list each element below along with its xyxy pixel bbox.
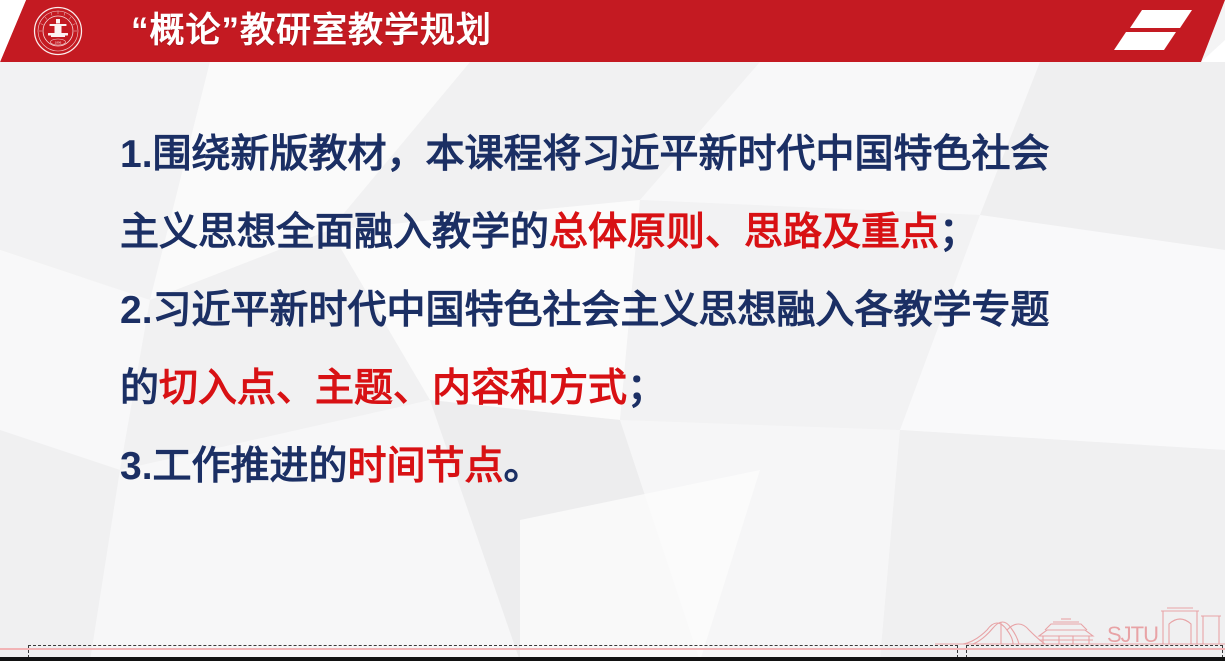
page-title: “概论”教研室教学规划 bbox=[131, 8, 492, 54]
text-run: 3.工作推进的 bbox=[120, 445, 348, 488]
text-run: 的 bbox=[120, 367, 159, 410]
text-run: 主义思想全面融入教学的 bbox=[120, 211, 549, 254]
list-item-2-line-1: 2.习近平新时代中国特色社会主义思想融入各教学专题 bbox=[120, 272, 1190, 350]
parallelogram-corner-mark bbox=[1108, 8, 1198, 54]
text-run: ； bbox=[627, 367, 666, 410]
text-run: 2.习近平新时代中国特色社会主义思想融入各教学专题 bbox=[120, 289, 1050, 332]
text-run-highlight: 总体原则、思路及重点 bbox=[549, 211, 939, 254]
text-run: 1.围绕新版教材，本课程将习近平新时代中国特色社会 bbox=[120, 133, 1050, 176]
list-item-1-line-1: 1.围绕新版教材，本课程将习近平新时代中国特色社会 bbox=[120, 116, 1190, 194]
sjtu-seal-logo: 1896 bbox=[33, 6, 83, 56]
slide-header: 1896 “概论”教研室教学规划 bbox=[0, 0, 1225, 62]
text-run: 。 bbox=[504, 445, 543, 488]
slide-bottom-edge bbox=[0, 657, 1225, 661]
list-item-2-line-2: 的切入点、主题、内容和方式； bbox=[120, 350, 1190, 428]
text-run: ； bbox=[939, 211, 978, 254]
skyline-sjtu-label: SJTU bbox=[1107, 622, 1158, 647]
text-run-highlight: 切入点、主题、内容和方式 bbox=[159, 367, 627, 410]
slide-canvas: 1896 “概论”教研室教学规划 1.围绕新版教材，本课程将习近平新时代中国特色… bbox=[0, 0, 1225, 661]
text-run-highlight: 时间节点 bbox=[348, 445, 504, 488]
list-item-3-line-1: 3.工作推进的时间节点。 bbox=[120, 428, 1190, 506]
body-content: 1.围绕新版教材，本课程将习近平新时代中国特色社会 主义思想全面融入教学的总体原… bbox=[120, 116, 1190, 506]
svg-text:1896: 1896 bbox=[55, 41, 62, 45]
sjtu-campus-skyline-art: SJTU bbox=[935, 586, 1225, 648]
list-item-1-line-2: 主义思想全面融入教学的总体原则、思路及重点； bbox=[120, 194, 1190, 272]
